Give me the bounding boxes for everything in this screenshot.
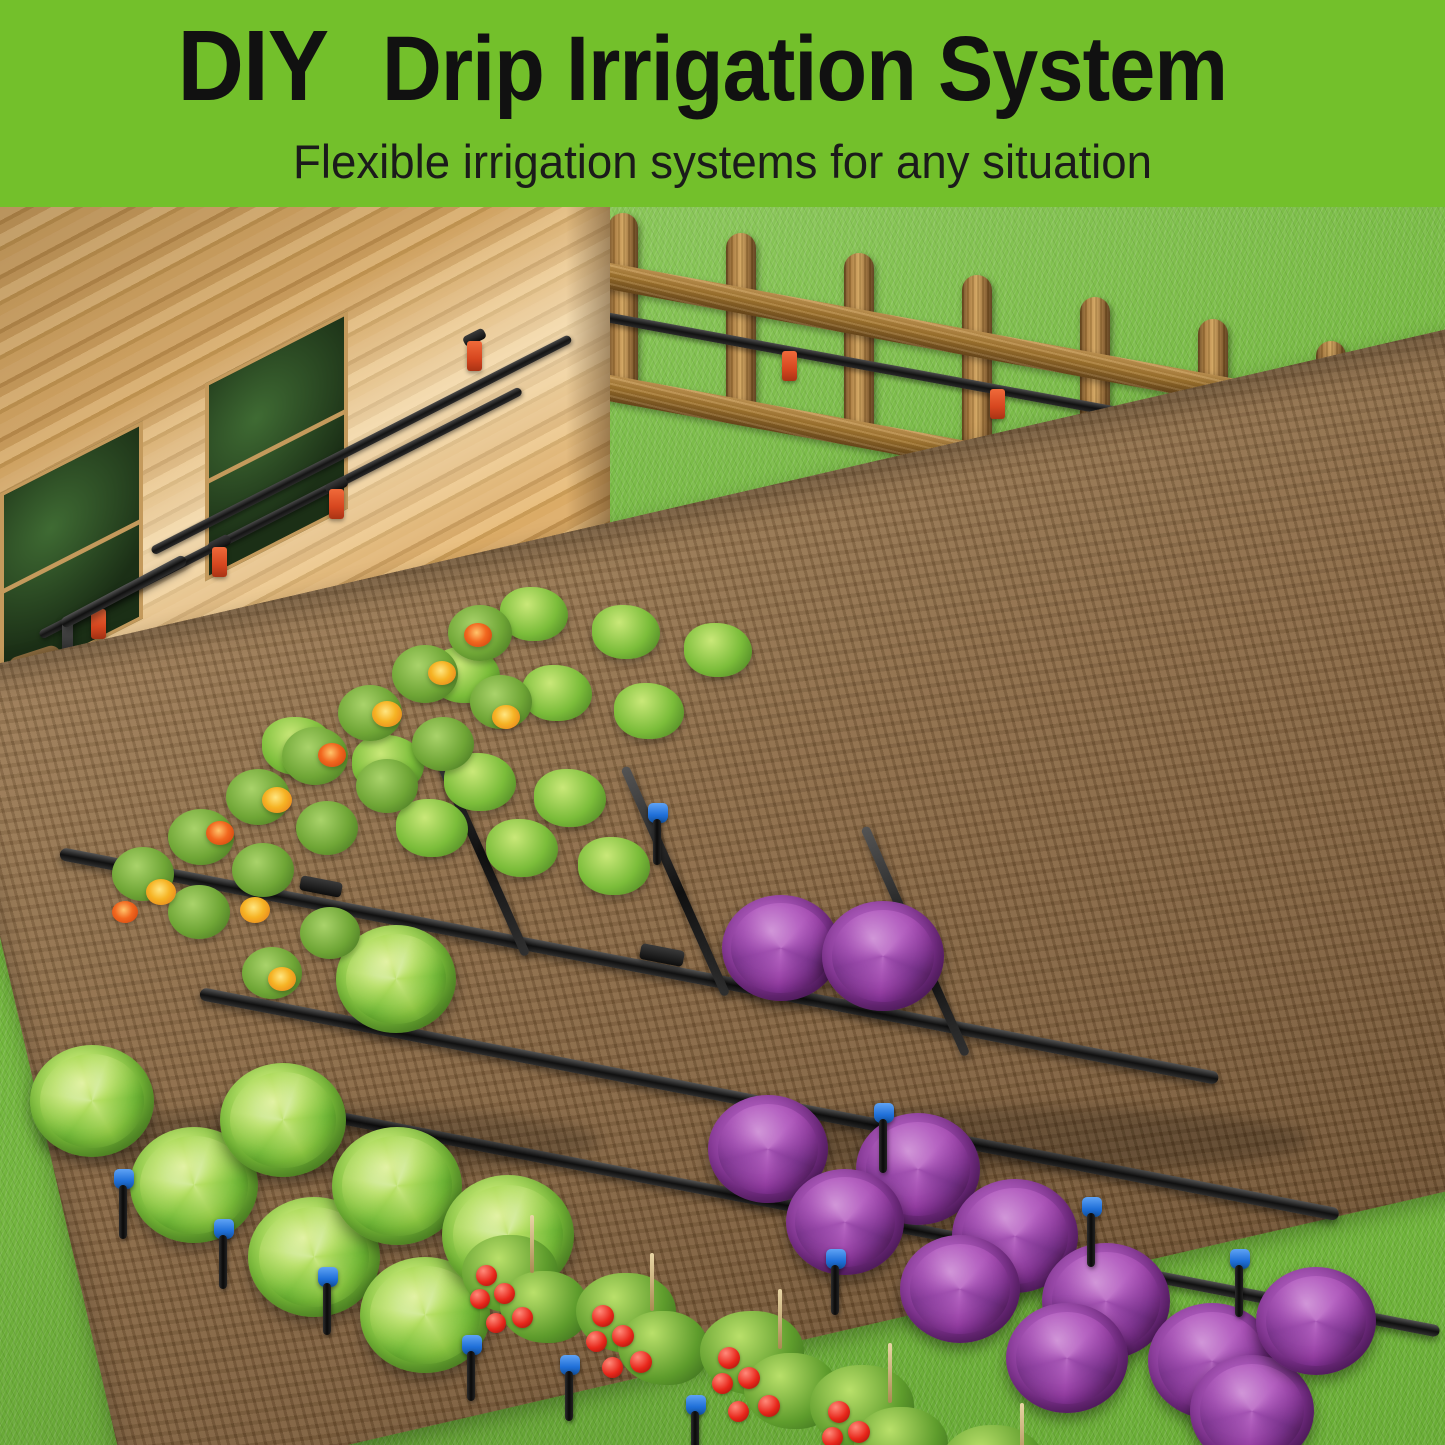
drip-riser	[691, 1411, 699, 1445]
cherry-tomato-fruit	[494, 1283, 515, 1304]
nasturtium-leaf	[168, 885, 230, 939]
cherry-tomato-fruit	[718, 1347, 740, 1369]
red-cabbage	[822, 901, 944, 1011]
leafy-seedling	[592, 605, 660, 659]
nasturtium-leaf	[232, 843, 294, 897]
nasturtium-flower	[464, 623, 492, 647]
nasturtium-flower	[372, 701, 402, 727]
cherry-tomato-fruit	[822, 1427, 843, 1445]
tomato-foliage	[500, 1271, 588, 1343]
red-cabbage	[900, 1235, 1020, 1343]
drip-riser	[467, 1351, 475, 1401]
cherry-tomato-fruit	[738, 1367, 760, 1389]
red-cabbage	[1256, 1267, 1376, 1375]
red-cabbage	[1006, 1303, 1128, 1413]
leafy-seedling	[684, 623, 752, 677]
drip-emitter	[212, 547, 227, 577]
cherry-tomato-fruit	[602, 1357, 623, 1378]
fence-post	[726, 233, 756, 413]
tomato-foliage	[618, 1311, 708, 1385]
nasturtium-flower	[318, 743, 346, 767]
fence-post	[608, 213, 638, 388]
drip-riser	[1235, 1265, 1243, 1317]
nasturtium-leaf	[296, 801, 358, 855]
garden-scene-photo	[0, 207, 1445, 1445]
cherry-tomato-fruit	[630, 1351, 652, 1373]
nasturtium-flower	[240, 897, 270, 923]
cherry-tomato-fruit	[476, 1265, 497, 1286]
cherry-tomato-fruit	[586, 1331, 607, 1352]
header-banner: DIY Drip Irrigation System Flexible irri…	[0, 0, 1445, 207]
drip-riser	[119, 1185, 127, 1239]
nasturtium-flower	[268, 967, 296, 991]
drip-emitter	[329, 489, 344, 519]
plant-support-stake	[1020, 1403, 1024, 1445]
drip-emitter	[782, 351, 797, 381]
cherry-tomato-fruit	[486, 1313, 506, 1333]
cherry-tomato-fruit	[728, 1401, 749, 1422]
title-rest: Drip Irrigation System	[382, 23, 1227, 115]
leafy-seedling	[396, 799, 468, 857]
fence-post	[844, 253, 874, 438]
drip-riser	[565, 1371, 573, 1421]
drip-emitter	[990, 389, 1005, 419]
nasturtium-flower	[146, 879, 176, 905]
leafy-seedling	[614, 683, 684, 739]
cherry-tomato-fruit	[512, 1307, 533, 1328]
drip-riser	[653, 819, 661, 865]
drip-emitter	[467, 341, 482, 371]
page-subtitle: Flexible irrigation systems for any situ…	[22, 134, 1424, 189]
page-title: DIY Drip Irrigation System	[0, 16, 1445, 116]
cherry-tomato-fruit	[470, 1289, 490, 1309]
product-marketing-image: DIY Drip Irrigation System Flexible irri…	[0, 0, 1445, 1445]
plant-support-stake	[650, 1253, 654, 1311]
title-emphasis: DIY	[178, 16, 329, 116]
nasturtium-leaf	[356, 759, 418, 813]
plant-support-stake	[778, 1289, 782, 1349]
nasturtium-leaf	[412, 717, 474, 771]
drip-riser	[219, 1235, 227, 1289]
nasturtium-flower	[206, 821, 234, 845]
nasturtium-flower	[428, 661, 456, 685]
lettuce-head	[30, 1045, 154, 1157]
cherry-tomato-fruit	[828, 1401, 850, 1423]
drip-riser	[323, 1283, 331, 1335]
nasturtium-flower	[492, 705, 520, 729]
nasturtium-flower	[112, 901, 138, 923]
leafy-seedling	[578, 837, 650, 895]
nasturtium-leaf	[300, 907, 360, 959]
plant-support-stake	[530, 1215, 534, 1273]
drip-riser	[879, 1119, 887, 1173]
cherry-tomato-fruit	[612, 1325, 634, 1347]
leafy-seedling	[486, 819, 558, 877]
nasturtium-flower	[262, 787, 292, 813]
cherry-tomato-fruit	[758, 1395, 780, 1417]
lettuce-head	[220, 1063, 346, 1177]
cherry-tomato-fruit	[848, 1421, 870, 1443]
drip-riser	[831, 1265, 839, 1315]
leafy-seedling	[522, 665, 592, 721]
cherry-tomato-fruit	[712, 1373, 733, 1394]
leafy-seedling	[534, 769, 606, 827]
plant-support-stake	[888, 1343, 892, 1403]
cherry-tomato-fruit	[592, 1305, 614, 1327]
drip-riser	[1087, 1213, 1095, 1267]
